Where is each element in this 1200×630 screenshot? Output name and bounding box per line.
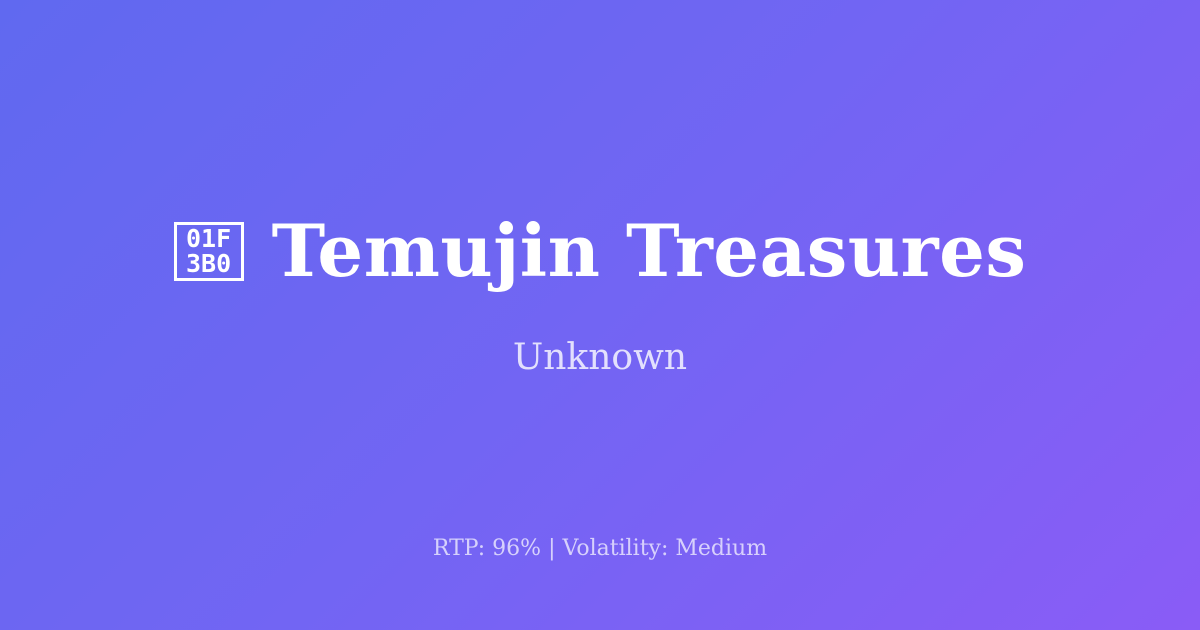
- share-card: 01F 3B0 Temujin Treasures Unknown RTP: 9…: [0, 0, 1200, 630]
- card-subtitle: Unknown: [513, 336, 687, 379]
- card-main-content: 01F 3B0 Temujin Treasures Unknown: [0, 213, 1200, 379]
- title-row: 01F 3B0 Temujin Treasures: [0, 213, 1200, 289]
- page-title: Temujin Treasures: [272, 213, 1027, 289]
- slot-machine-icon: 01F 3B0: [174, 222, 244, 281]
- card-footer-stats: RTP: 96% | Volatility: Medium: [0, 536, 1200, 562]
- codepoint-hex-bottom: 3B0: [186, 251, 231, 276]
- codepoint-hex-top: 01F: [186, 226, 231, 251]
